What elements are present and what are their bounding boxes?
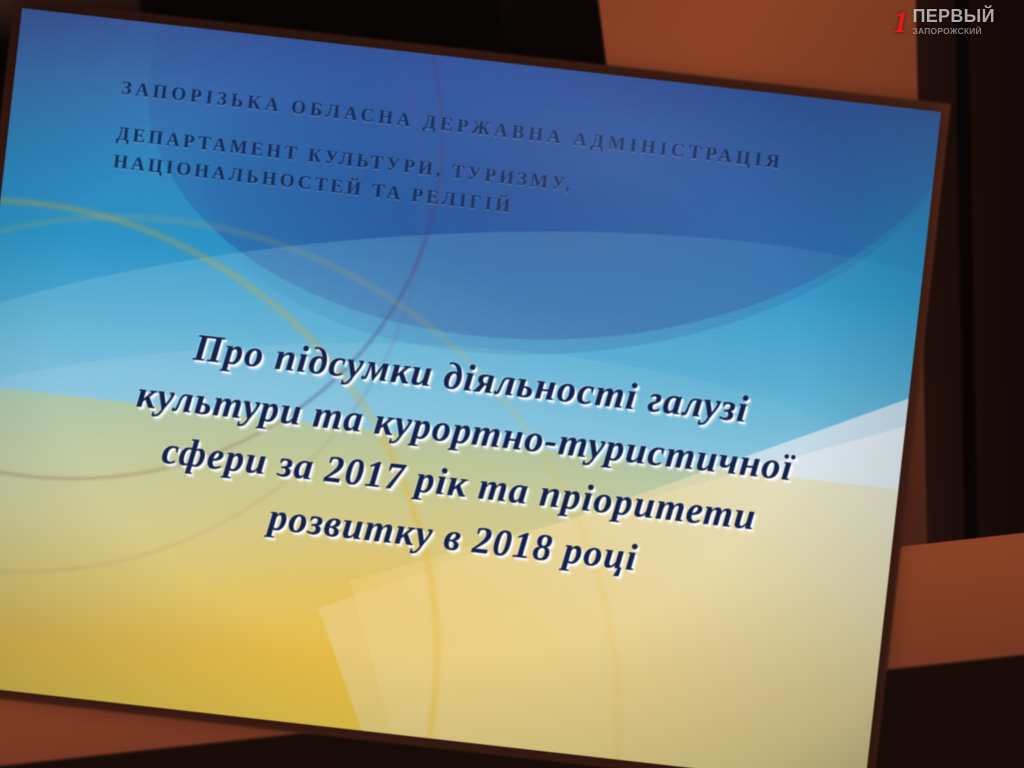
channel-subname: ЗАПОРОЖСКИЙ [913, 27, 995, 36]
channel-numeral-one: 1 [893, 6, 909, 37]
channel-watermark: 1 ПЕРВЫЙ ЗАПОРОЖСКИЙ [893, 4, 1015, 38]
projected-slide: ЗАПОРІЗЬКА ОБЛАСНА ДЕРЖАВНА АДМІНІСТРАЦІ… [0, 8, 941, 768]
channel-name-block: ПЕРВЫЙ ЗАПОРОЖСКИЙ [913, 7, 995, 36]
channel-name: ПЕРВЫЙ [913, 7, 995, 25]
projection-screen-area: ЗАПОРІЗЬКА ОБЛАСНА ДЕРЖАВНА АДМІНІСТРАЦІ… [0, 0, 1024, 768]
screenshot-root: ЗАПОРІЗЬКА ОБЛАСНА ДЕРЖАВНА АДМІНІСТРАЦІ… [0, 0, 1024, 768]
